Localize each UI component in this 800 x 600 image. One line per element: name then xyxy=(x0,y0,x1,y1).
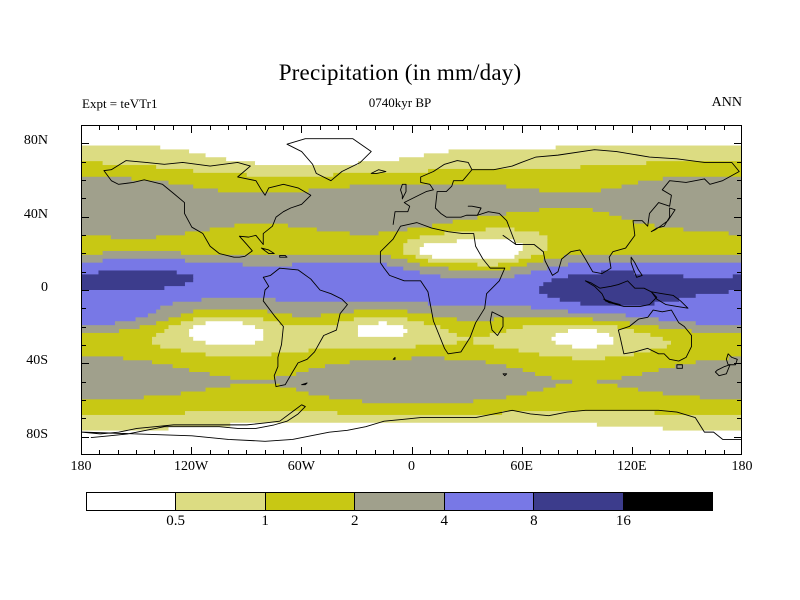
axis-tick xyxy=(503,450,504,455)
colorbar-tick-label: 0.5 xyxy=(166,513,185,530)
axis-tick xyxy=(81,400,86,401)
axis-tick xyxy=(734,143,742,144)
axis-tick xyxy=(210,450,211,455)
axis-tick xyxy=(737,308,742,309)
axis-tick xyxy=(737,400,742,401)
axis-tick xyxy=(375,450,376,455)
axis-tick xyxy=(669,450,670,455)
axis-tick xyxy=(320,125,321,130)
axis-tick xyxy=(393,125,394,130)
y-axis-tick-label: 80N xyxy=(24,133,48,149)
axis-tick xyxy=(734,363,742,364)
axis-tick xyxy=(99,450,100,455)
axis-tick xyxy=(430,125,431,130)
colorbar-tick-label: 16 xyxy=(616,513,631,530)
axis-tick xyxy=(265,450,266,455)
axis-tick xyxy=(522,447,523,455)
axis-tick xyxy=(356,450,357,455)
axis-tick xyxy=(154,450,155,455)
axis-tick xyxy=(246,125,247,130)
axis-tick xyxy=(81,290,89,291)
axis-tick xyxy=(485,450,486,455)
axis-tick xyxy=(669,125,670,130)
y-axis-tick-label: 80S xyxy=(26,427,48,443)
axis-tick xyxy=(173,125,174,130)
axis-tick xyxy=(705,450,706,455)
axis-tick xyxy=(228,125,229,130)
axis-tick xyxy=(81,345,86,346)
axis-tick xyxy=(338,450,339,455)
axis-tick xyxy=(265,125,266,130)
axis-tick xyxy=(81,437,89,438)
y-axis-tick-label: 40S xyxy=(26,353,48,369)
axis-tick xyxy=(613,125,614,130)
axis-tick xyxy=(154,125,155,130)
axis-tick xyxy=(301,125,302,133)
axis-tick xyxy=(737,253,742,254)
axis-tick xyxy=(737,162,742,163)
precipitation-map-figure: Precipitation (in mm/day) 0740kyr BP Exp… xyxy=(0,0,800,600)
axis-tick xyxy=(412,125,413,133)
axis-tick xyxy=(467,450,468,455)
axis-tick xyxy=(393,450,394,455)
axis-tick xyxy=(81,418,86,419)
axis-tick xyxy=(577,450,578,455)
axis-tick xyxy=(705,125,706,130)
colorbar-swatch[interactable] xyxy=(354,493,443,510)
axis-tick xyxy=(522,125,523,133)
axis-tick xyxy=(650,450,651,455)
axis-tick xyxy=(734,217,742,218)
axis-tick xyxy=(737,235,742,236)
x-axis-tick-label: 180 xyxy=(71,459,92,475)
axis-tick xyxy=(81,198,86,199)
axis-tick xyxy=(734,437,742,438)
map-plot-area xyxy=(81,125,742,455)
x-axis-tick-label: 0 xyxy=(408,459,415,475)
axis-tick xyxy=(81,308,86,309)
axis-tick xyxy=(81,363,89,364)
axis-tick xyxy=(503,125,504,130)
axis-tick xyxy=(448,125,449,130)
axis-tick xyxy=(81,253,86,254)
axis-tick xyxy=(81,327,86,328)
axis-tick xyxy=(724,125,725,130)
axis-tick xyxy=(595,450,596,455)
axis-tick xyxy=(558,125,559,130)
axis-tick xyxy=(734,290,742,291)
map-canvas xyxy=(82,126,741,454)
axis-tick xyxy=(577,125,578,130)
axis-tick xyxy=(320,450,321,455)
axis-tick xyxy=(99,125,100,130)
x-axis-tick-label: 180 xyxy=(732,459,753,475)
axis-tick xyxy=(375,125,376,130)
axis-tick xyxy=(737,180,742,181)
axis-tick xyxy=(81,143,89,144)
y-axis-tick-label: 0 xyxy=(41,280,48,296)
colorbar-swatch[interactable] xyxy=(444,493,533,510)
x-axis-tick-label: 120W xyxy=(174,459,208,475)
axis-tick xyxy=(81,162,86,163)
axis-tick xyxy=(356,125,357,130)
axis-tick xyxy=(632,125,633,133)
axis-tick xyxy=(632,447,633,455)
axis-tick xyxy=(737,198,742,199)
axis-tick xyxy=(687,125,688,130)
axis-tick xyxy=(737,272,742,273)
colorbar-swatch[interactable] xyxy=(623,493,712,510)
colorbar-tick-label: 8 xyxy=(530,513,538,530)
axis-tick xyxy=(246,450,247,455)
axis-tick xyxy=(737,345,742,346)
axis-tick xyxy=(301,447,302,455)
axis-tick xyxy=(737,382,742,383)
axis-tick xyxy=(118,450,119,455)
axis-tick xyxy=(191,125,192,133)
precipitation-contour-field xyxy=(82,126,741,454)
axis-tick xyxy=(558,450,559,455)
axis-tick xyxy=(81,180,86,181)
axis-tick xyxy=(485,125,486,130)
axis-tick xyxy=(173,450,174,455)
colorbar-swatch[interactable] xyxy=(265,493,354,510)
axis-tick xyxy=(737,418,742,419)
x-axis-tick-label: 120E xyxy=(617,459,647,475)
axis-tick xyxy=(650,125,651,130)
axis-tick xyxy=(613,450,614,455)
x-axis-tick-label: 60W xyxy=(288,459,315,475)
axis-tick xyxy=(540,450,541,455)
axis-tick xyxy=(595,125,596,130)
axis-tick xyxy=(136,450,137,455)
colorbar-swatch[interactable] xyxy=(175,493,264,510)
colorbar-tick-label: 1 xyxy=(261,513,269,530)
axis-tick xyxy=(136,125,137,130)
colorbar-swatch[interactable] xyxy=(87,493,175,510)
axis-tick xyxy=(467,125,468,130)
experiment-label: Expt = teVTr1 xyxy=(82,96,157,112)
axis-tick xyxy=(412,447,413,455)
x-axis-tick-label: 60E xyxy=(510,459,533,475)
axis-tick xyxy=(81,235,86,236)
axis-tick xyxy=(283,450,284,455)
axis-tick xyxy=(191,447,192,455)
axis-tick xyxy=(687,450,688,455)
colorbar-tick-label: 4 xyxy=(441,513,449,530)
colorbar-tick-label: 2 xyxy=(351,513,359,530)
axis-tick xyxy=(724,450,725,455)
axis-tick xyxy=(81,382,86,383)
axis-tick xyxy=(737,327,742,328)
axis-tick xyxy=(448,450,449,455)
axis-tick xyxy=(118,125,119,130)
axis-tick xyxy=(228,450,229,455)
axis-tick xyxy=(430,450,431,455)
axis-tick xyxy=(283,125,284,130)
axis-tick xyxy=(210,125,211,130)
axis-tick xyxy=(81,272,86,273)
season-label: ANN xyxy=(712,95,742,111)
colorbar-swatch[interactable] xyxy=(533,493,622,510)
axis-tick xyxy=(540,125,541,130)
colorbar[interactable] xyxy=(86,492,713,511)
page-title: Precipitation (in mm/day) xyxy=(0,60,800,86)
axis-tick xyxy=(338,125,339,130)
y-axis-tick-label: 40N xyxy=(24,207,48,223)
axis-tick xyxy=(81,217,89,218)
